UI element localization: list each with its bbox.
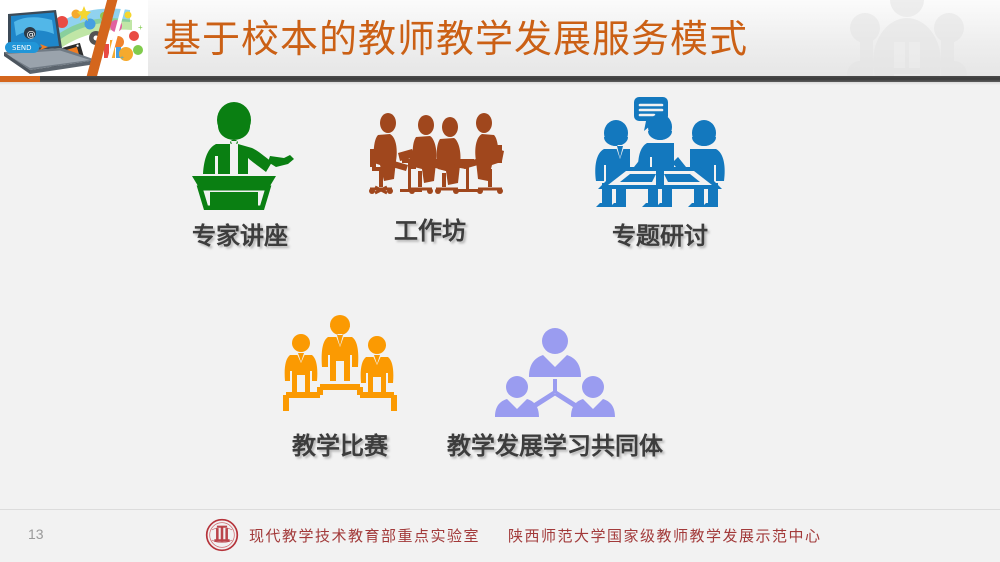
group-meeting-table-icon	[350, 105, 510, 205]
people-network-icon	[495, 325, 615, 420]
item-teaching-competition[interactable]: 教学比赛	[250, 315, 430, 461]
svg-text:+: +	[120, 55, 124, 62]
footer-center-name: 陕西师范大学国家级教师教学发展示范中心	[508, 525, 822, 546]
page-number: 13	[28, 526, 44, 542]
item-label: 教学比赛	[250, 426, 430, 461]
slide-header: + +	[0, 0, 1000, 78]
slide-content: 专家讲座	[0, 85, 1000, 510]
svg-text:+: +	[138, 23, 143, 32]
item-label: 专家讲座	[160, 216, 320, 251]
footer-lab-name: 现代教学技术教育部重点实验室	[249, 525, 480, 546]
item-label: 工作坊	[340, 211, 520, 246]
laptop-multimedia-image: + +	[0, 0, 148, 78]
university-red-seal	[205, 518, 239, 552]
item-expert-lecture[interactable]: 专家讲座	[160, 100, 320, 251]
footer-center-group: 现代教学技术教育部重点实验室 陕西师范大学国家级教师教学发展示范中心	[205, 518, 822, 552]
item-thematic-seminar[interactable]: 专题研讨	[570, 95, 750, 251]
item-label: 专题研讨	[570, 216, 750, 251]
speaker-podium-icon	[174, 100, 306, 210]
svg-text:@: @	[27, 30, 36, 40]
slide-footer: 13 现代教学技术教育部重点实验室 陕西师范大学国家级教师教学发展示范中心	[0, 509, 1000, 562]
item-label: 教学发展学习共同体	[430, 426, 680, 461]
item-workshop[interactable]: 工作坊	[340, 105, 520, 246]
university-emblem-watermark	[832, 0, 982, 78]
page-title: 基于校本的教师教学发展服务模式	[163, 12, 748, 66]
podium-winners-icon	[280, 315, 400, 420]
three-people-discussion-icon	[590, 95, 730, 210]
presentation-slide: + +	[0, 0, 1000, 562]
svg-text:SEND: SEND	[12, 44, 32, 52]
item-learning-community[interactable]: 教学发展学习共同体	[430, 325, 680, 461]
